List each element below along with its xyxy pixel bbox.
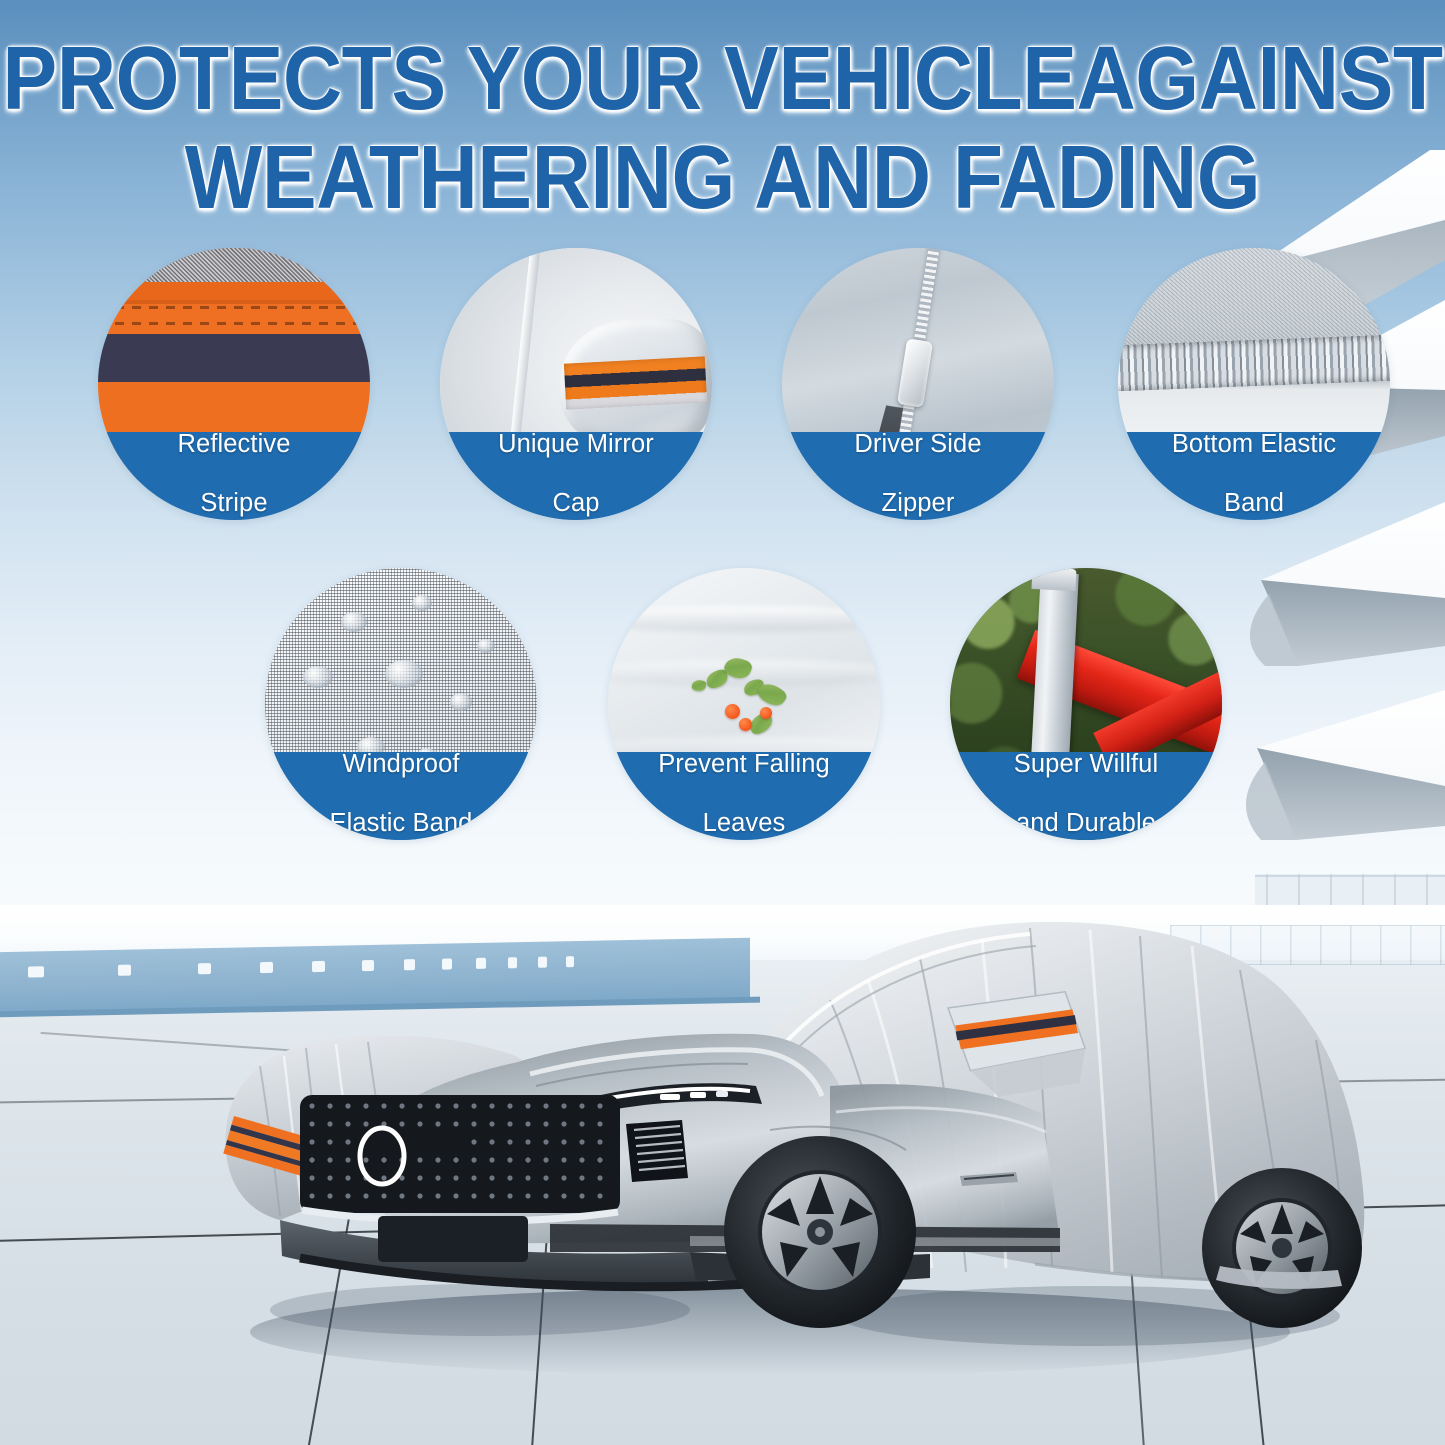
headline-line-1: PROTECTS YOUR VEHICLEAGAINST [0,34,1445,122]
headline-line-2: WEATHERING AND FADING [0,133,1445,221]
feature-circle-unique-mirror-cap[interactable]: Unique Mirror Cap [440,248,712,520]
feature-label-line1: Reflective [104,430,364,460]
feature-circle-driver-side-zipper[interactable]: Driver Side Zipper [782,248,1054,520]
feature-label-line1: Super Willful [956,750,1216,780]
feature-label-line1: Windproof [271,750,531,780]
feature-circle-bottom-elastic-band[interactable]: Bottom Elastic Band [1118,248,1390,520]
feature-label-band: Driver Side Zipper [782,432,1054,520]
feature-circle-reflective-stripe[interactable]: Reflective Stripe [98,248,370,520]
feature-label-line1: Driver Side [788,430,1048,460]
feature-circle-prevent-falling-leaves[interactable]: Prevent Falling Leaves [608,568,880,840]
feature-label-band: Bottom Elastic Band [1118,432,1390,520]
page-title: PROTECTS YOUR VEHICLEAGAINST WEATHERING … [0,34,1445,211]
feature-label-line2: Leaves [614,809,874,839]
feature-label-line1: Bottom Elastic [1124,430,1384,460]
feature-label-line1: Unique Mirror [446,430,706,460]
feature-label-line2: Band [1124,489,1384,519]
feature-label-line2: Stripe [104,489,364,519]
feature-label-band: Unique Mirror Cap [440,432,712,520]
feature-label-band: Super Willful and Durable [950,752,1222,840]
feature-label-line2: Cap [446,489,706,519]
product-feature-graphic: PROTECTS YOUR VEHICLEAGAINST WEATHERING … [0,0,1445,1445]
feature-label-band: Windproof Elastic Band [265,752,537,840]
feature-label-line2: Elastic Band [271,809,531,839]
feature-label-band: Prevent Falling Leaves [608,752,880,840]
feature-label-line1: Prevent Falling [614,750,874,780]
feature-label-band: Reflective Stripe [98,432,370,520]
feature-label-line2: Zipper [788,489,1048,519]
feature-label-line2: and Durable [956,809,1216,839]
covered-car-photo [130,880,1390,1400]
feature-circle-windproof-elastic-band[interactable]: Windproof Elastic Band [265,568,537,840]
feature-circle-super-willful-and-durable[interactable]: Super Willful and Durable [950,568,1222,840]
